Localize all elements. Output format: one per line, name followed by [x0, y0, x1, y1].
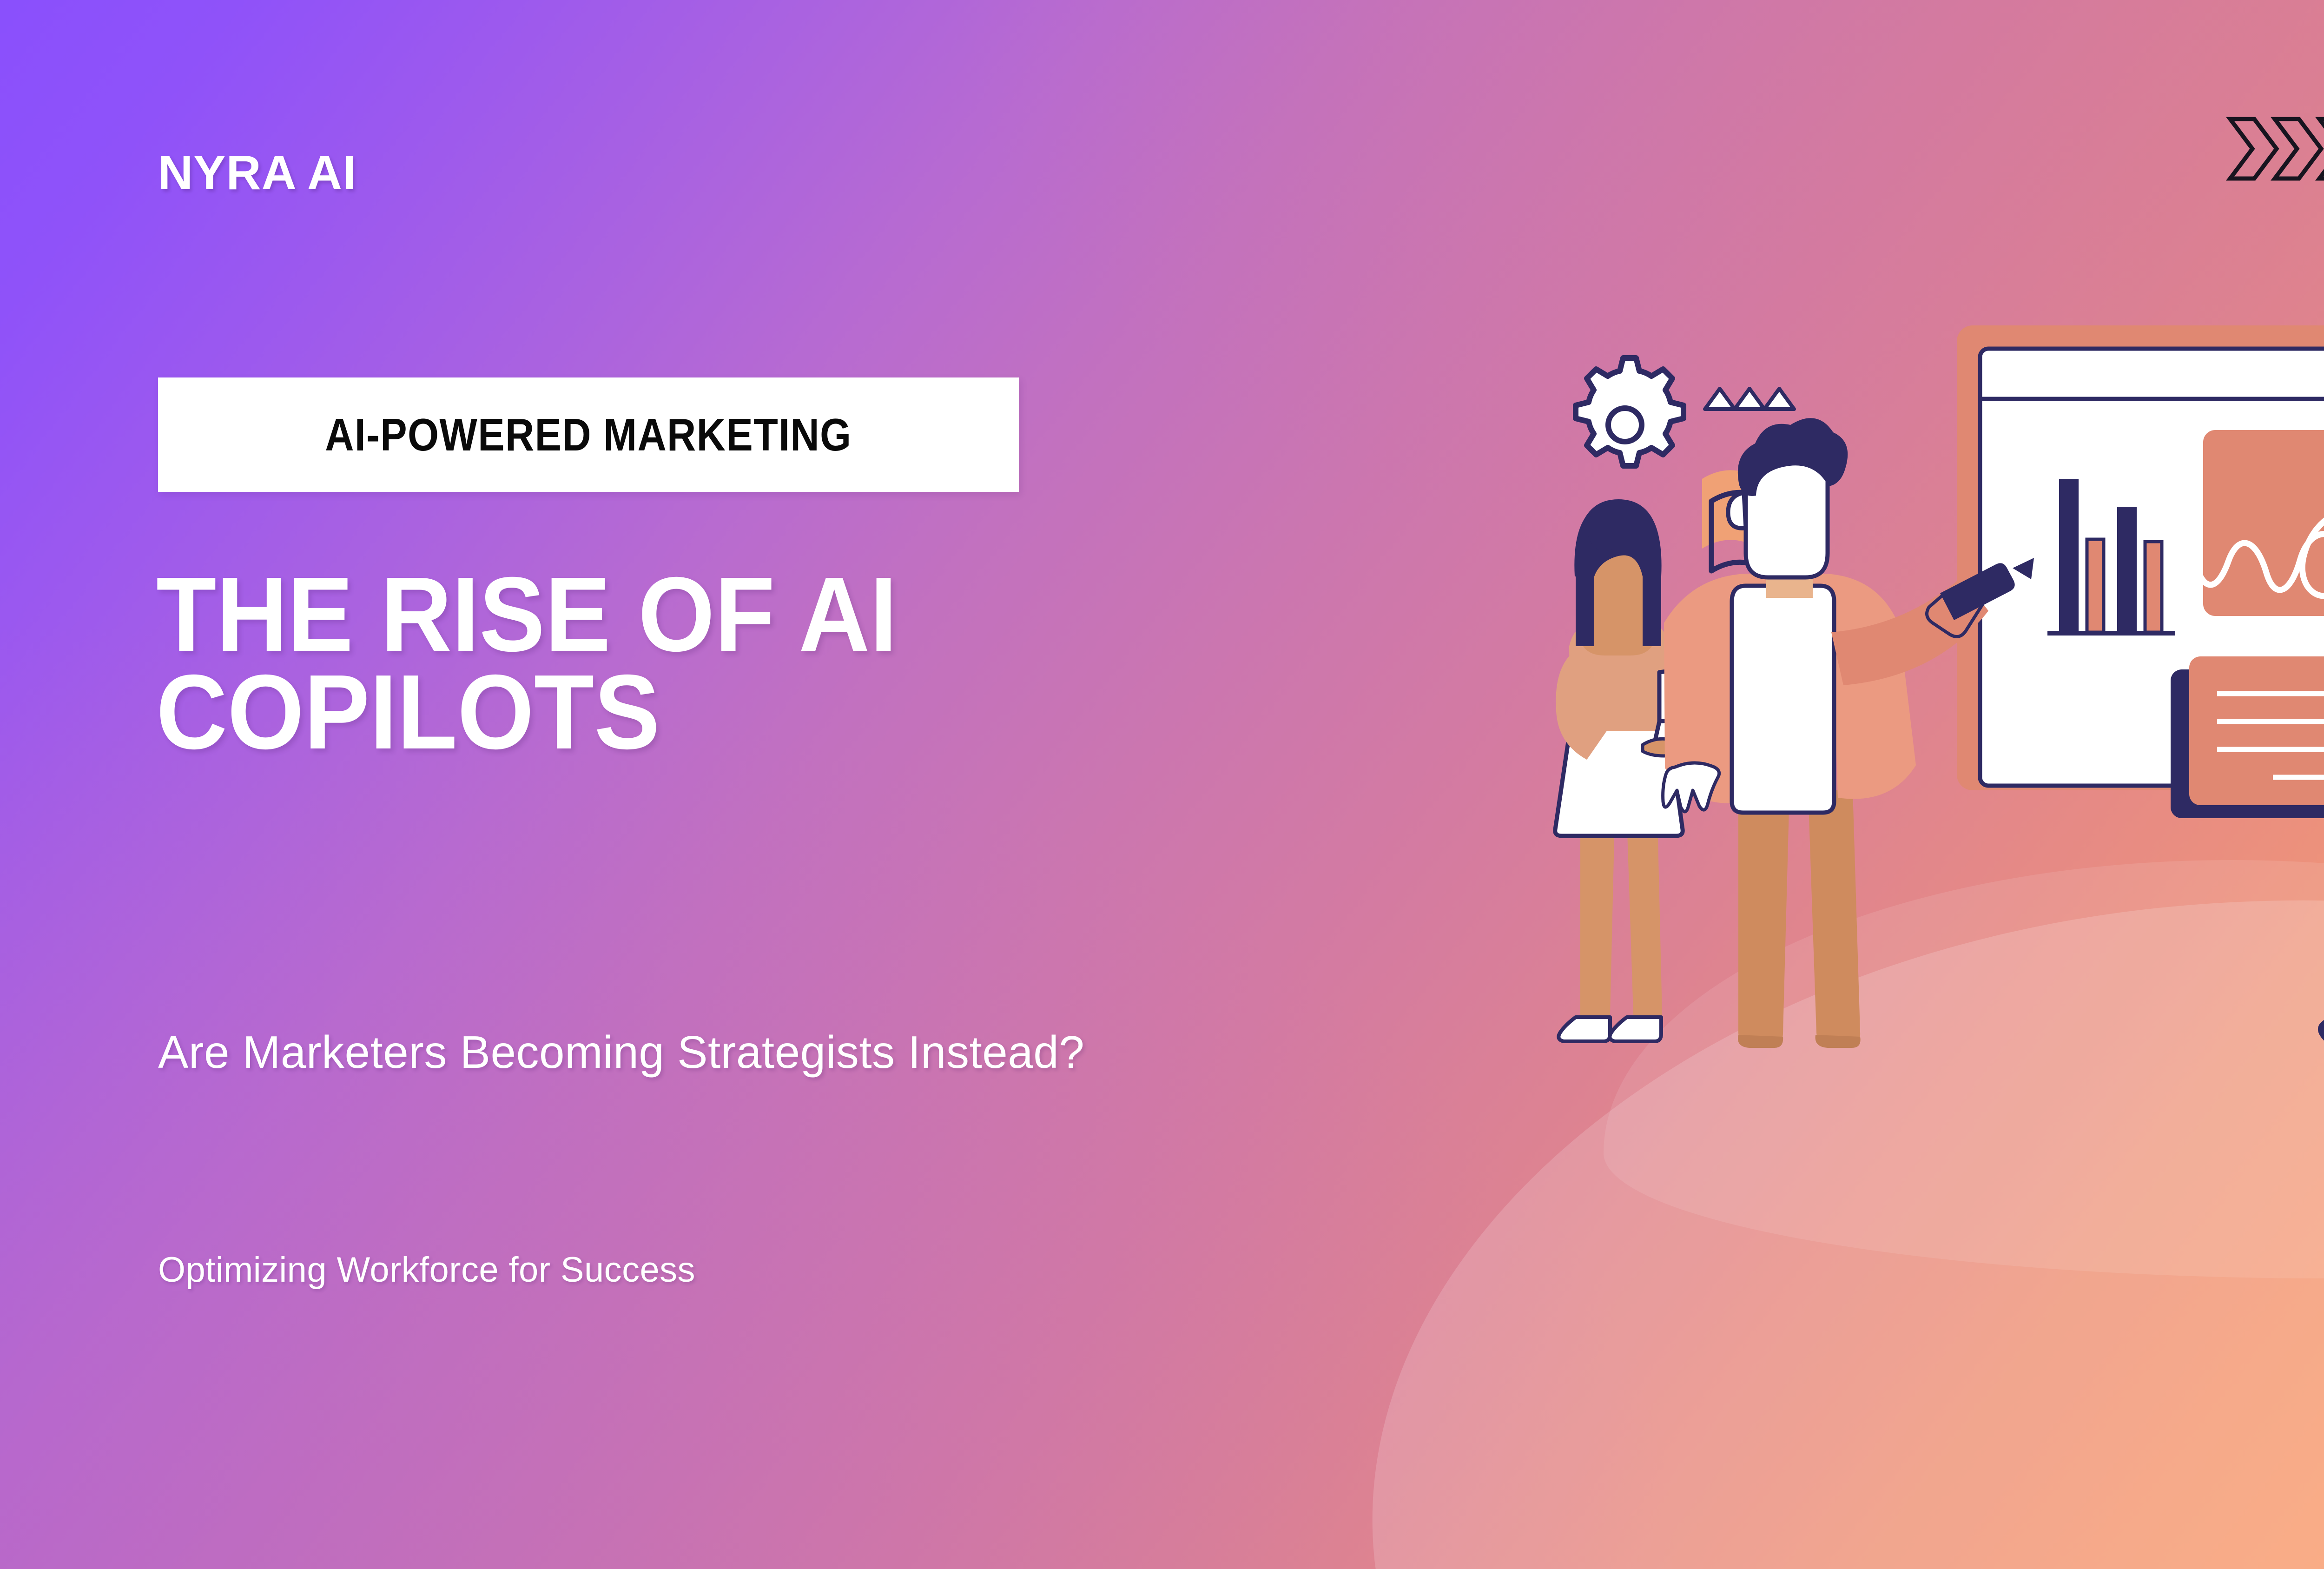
- gear-icon: [1576, 358, 1684, 466]
- pie-chart-card: [2171, 656, 2324, 818]
- zigzag-shape: [1705, 389, 1794, 409]
- chevron-outline-icon: [2230, 119, 2277, 179]
- category-badge: AI-POWERED MARKETING: [158, 377, 1019, 492]
- man-leg-left: [1738, 790, 1789, 1044]
- hero-illustration-svg: [1487, 298, 2324, 1223]
- subtitle: Are Marketers Becoming Strategists Inste…: [158, 1027, 1084, 1078]
- bar-navy-2: [2117, 507, 2137, 632]
- page-title-line-1: THE RISE OF AI: [156, 566, 1436, 664]
- wheelchair-person-shoe-upper: [2318, 1016, 2324, 1081]
- woman-leg-right: [1627, 818, 1662, 1027]
- poster-canvas: NYRA AI AI-POWERED MARKETING THE RISE OF…: [0, 0, 2324, 1569]
- page-title: THE RISE OF AI COPILOTS: [156, 566, 1532, 761]
- chevron-decoration-svg: [2226, 116, 2324, 181]
- category-badge-label: AI-POWERED MARKETING: [325, 409, 852, 461]
- gear-hole: [1608, 408, 1642, 442]
- chevron-outline-group: [2230, 119, 2324, 179]
- man-leg-right: [1808, 790, 1860, 1044]
- man-shoe-right: [1816, 1035, 1861, 1048]
- tagline: Optimizing Workforce for Success: [158, 1251, 695, 1290]
- pie-card-bg: [2189, 656, 2324, 805]
- page-title-line-2: COPILOTS: [156, 664, 1436, 761]
- woman-leg-left: [1580, 818, 1615, 1027]
- man-ear: [1728, 493, 1746, 528]
- woman-shoe-right: [1610, 1017, 1661, 1041]
- woman-shoe-left: [1558, 1017, 1610, 1041]
- presentation-screen: [1957, 325, 2324, 818]
- man-shoe-left: [1738, 1035, 1783, 1048]
- zigzag-icon: [1705, 389, 1794, 409]
- bar-coral-1: [2087, 539, 2104, 632]
- brand-logo: NYRA AI: [158, 149, 357, 197]
- chevron-outline-icon: [2275, 119, 2321, 179]
- hero-illustration: [1487, 298, 2324, 1223]
- bar-coral-2: [2145, 542, 2162, 632]
- chevron-decoration: [2226, 116, 2324, 181]
- man-shirt: [1732, 586, 1834, 813]
- bar-navy-1: [2059, 479, 2079, 632]
